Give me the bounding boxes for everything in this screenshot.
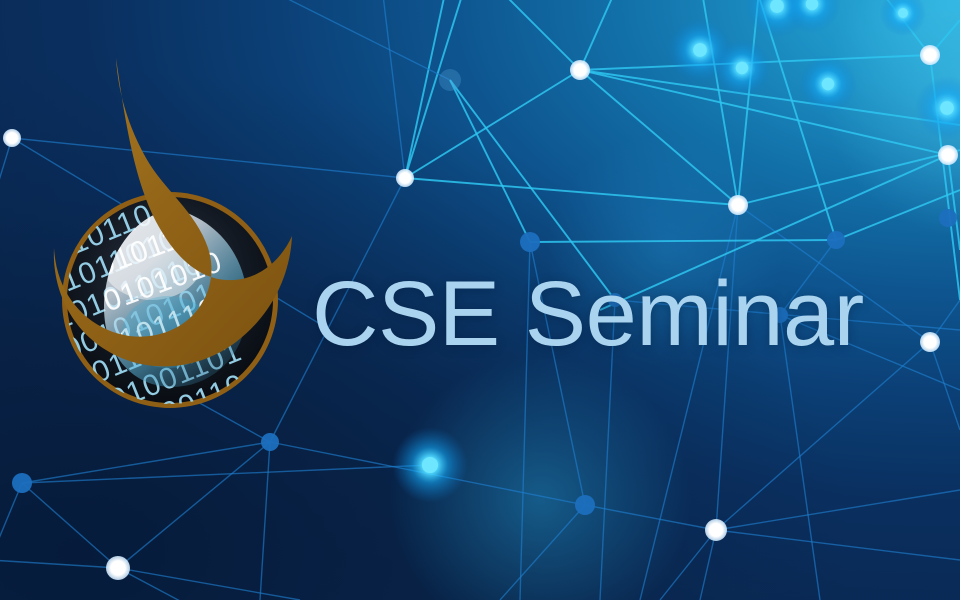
network-node (736, 62, 748, 74)
network-node (827, 231, 845, 249)
network-edge (118, 568, 212, 600)
network-edge (580, 0, 620, 70)
network-node (3, 129, 21, 147)
network-node (939, 209, 957, 227)
network-edge (580, 70, 960, 125)
network-node (396, 169, 414, 187)
network-node (439, 69, 461, 91)
network-edge (405, 0, 450, 178)
network-node (693, 43, 707, 57)
network-node (106, 556, 130, 580)
network-node (920, 45, 940, 65)
network-edge (716, 342, 930, 530)
network-edge (738, 0, 760, 205)
network-edge (118, 442, 270, 568)
network-edge (22, 483, 118, 568)
network-node (938, 145, 958, 165)
network-node-glow (880, 0, 926, 36)
page-title: CSE Seminar (312, 268, 864, 360)
network-edge (716, 530, 960, 560)
network-node (520, 232, 540, 252)
network-node (12, 473, 32, 493)
network-node (920, 332, 940, 352)
cse-flame-logo-icon: 11010110 101011010 0101011010 1001010101… (40, 40, 330, 440)
network-edge (450, 80, 530, 242)
network-edge (118, 568, 300, 600)
network-edge (930, 342, 960, 430)
network-edge (260, 442, 270, 600)
cse-seminar-banner: 11010110 101011010 0101011010 1001010101… (0, 0, 960, 600)
network-edge (490, 0, 580, 70)
network-edge (0, 138, 12, 210)
network-node (940, 101, 954, 115)
network-edge (22, 465, 430, 483)
network-edge (738, 150, 960, 205)
network-node (575, 495, 595, 515)
network-edge (380, 0, 405, 178)
network-edge (500, 505, 585, 600)
network-node (822, 78, 834, 90)
network-node (728, 195, 748, 215)
network-edge (405, 70, 580, 178)
network-node (422, 457, 438, 473)
network-node (570, 60, 590, 80)
network-edge (716, 490, 960, 530)
network-edge (405, 178, 738, 205)
network-edge (0, 483, 22, 560)
network-edge (948, 155, 960, 250)
network-node (705, 519, 727, 541)
network-edge (0, 560, 118, 568)
network-node (898, 8, 908, 18)
